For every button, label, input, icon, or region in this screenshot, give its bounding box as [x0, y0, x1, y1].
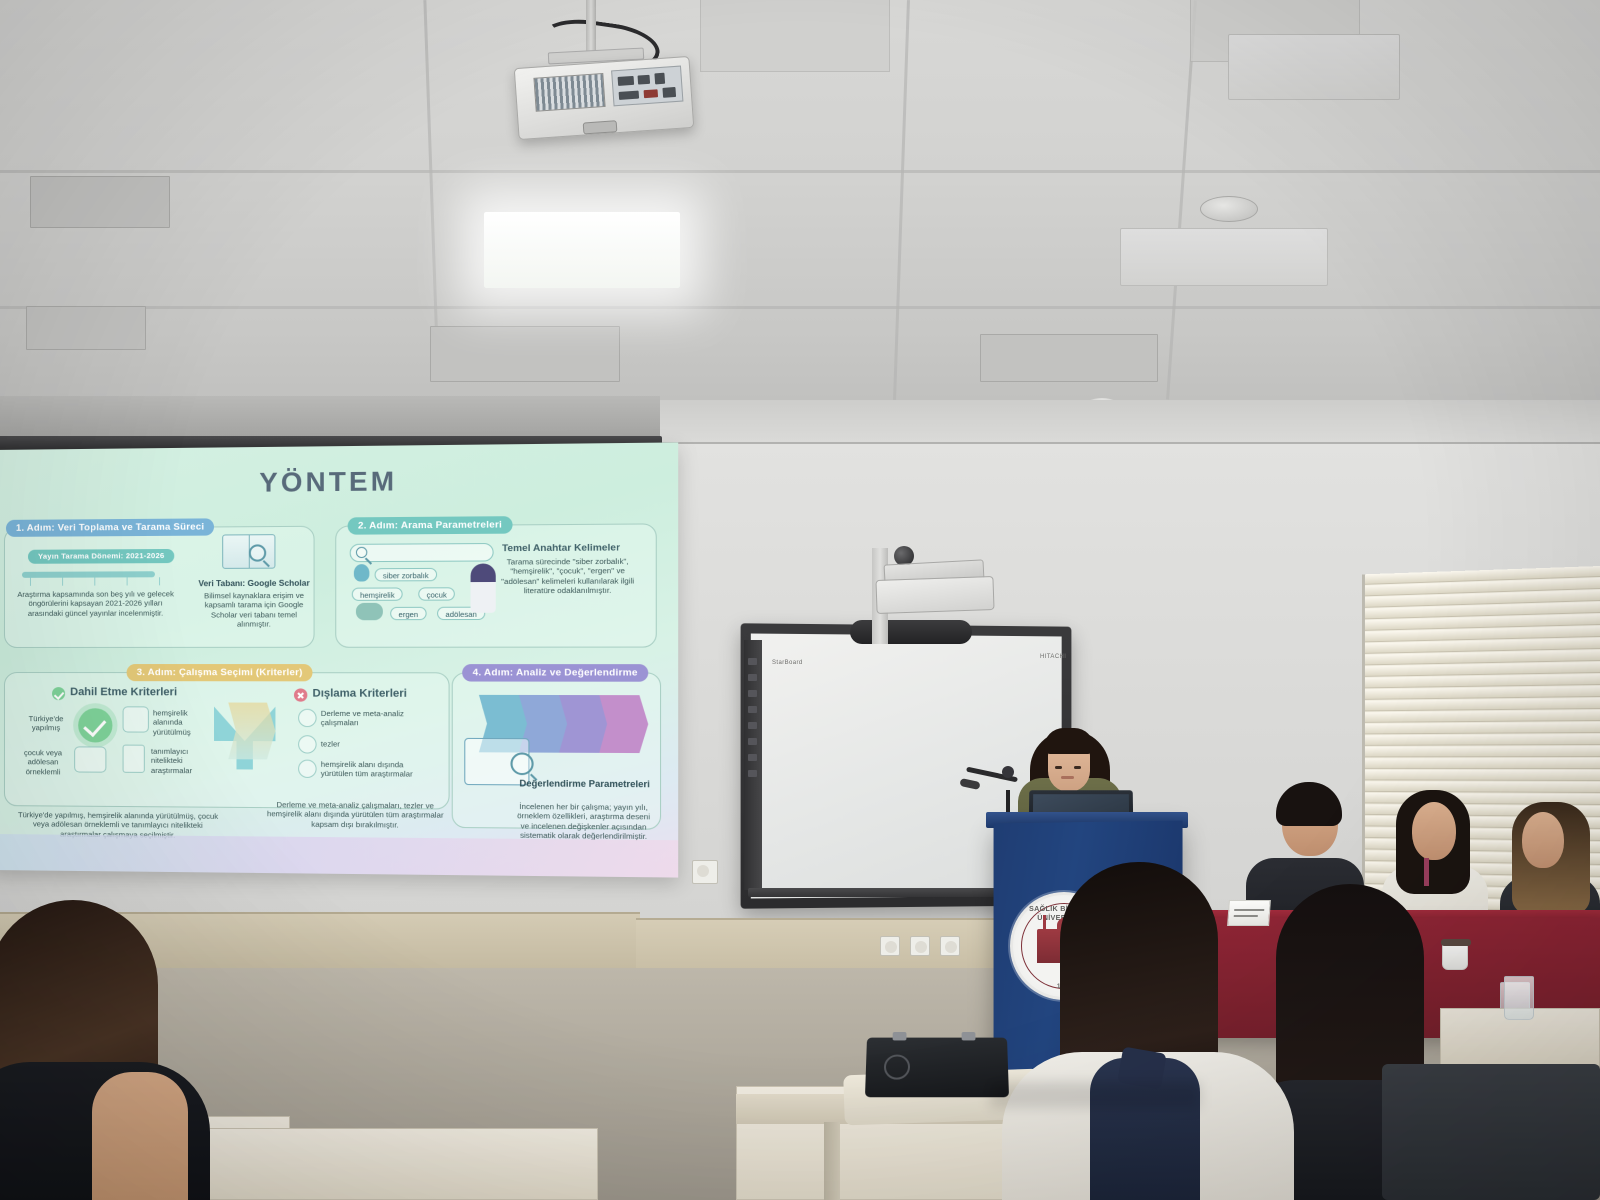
- include-check-icon: [52, 687, 65, 700]
- wall-short-throw-projector: [875, 576, 994, 614]
- wall-socket-left[interactable]: [692, 860, 718, 884]
- presentation-slide: YÖNTEM 1. Adım: Veri Toplama ve Tarama S…: [0, 442, 678, 877]
- magnifier-icon: [249, 544, 266, 561]
- desk-leg-center: [824, 1122, 840, 1200]
- exclude-item-0: Derleme ve meta-analiz çalışmaları: [321, 709, 423, 728]
- projection-screen: YÖNTEM 1. Adım: Veri Toplama ve Tarama S…: [0, 442, 678, 877]
- analysis-magnifier-icon: [510, 752, 533, 775]
- projector-lens: [583, 120, 618, 134]
- ceiling-speaker-icon: [1200, 196, 1258, 222]
- slide-bottom-band: [0, 834, 678, 878]
- keyword-tag-2: çocuk: [418, 587, 455, 600]
- step3-pill: 3. Adım: Çalışma Seçimi (Kriterler): [127, 664, 313, 681]
- nurse-avatar-icon: [471, 564, 496, 613]
- wall-socket-1[interactable]: [880, 936, 900, 956]
- step1-right-text: Bilimsel kaynaklara erişim ve kapsamlı t…: [198, 591, 311, 629]
- step1-timeline-bar: [22, 571, 155, 578]
- slide-title: YÖNTEM: [0, 463, 678, 501]
- search-bar-graphic: [350, 543, 494, 562]
- projector-port-panel: [611, 66, 683, 107]
- person-avatar-icon: [354, 564, 370, 581]
- presenter-hair-top: [1044, 728, 1094, 754]
- lecture-room-scene: YÖNTEM 1. Adım: Veri Toplama ve Tarama S…: [0, 0, 1600, 1200]
- coffee-cup: [1442, 942, 1468, 970]
- exclude-x-icon: [294, 688, 307, 701]
- whiteboard-soundbar: [850, 620, 972, 644]
- nurse-icon: [123, 706, 149, 732]
- step1-right-heading: Veri Tabanı: Google Scholar: [198, 579, 311, 589]
- children-icon: [74, 746, 106, 772]
- search-icon: [356, 547, 367, 558]
- include-item-3: tanımlayıcı nitelikteki araştırmalar: [151, 747, 216, 776]
- chair-right[interactable]: [1382, 1064, 1600, 1200]
- step1-pill: 1. Adım: Veri Toplama ve Tarama Süreci: [6, 518, 214, 537]
- group-avatar-icon: [356, 603, 383, 620]
- keyword-tag-1: hemşirelik: [352, 587, 403, 600]
- step1-left-text: Araştırma kapsamında son beş yılı ve gel…: [10, 589, 181, 618]
- review-icon: [298, 709, 317, 727]
- big-check-icon: [78, 708, 112, 742]
- step2-pill: 2. Adım: Arama Parametreleri: [348, 516, 513, 535]
- step4-text: İncelenen her bir çalışma; yayın yılı, ö…: [513, 802, 655, 842]
- keyword-tag-0: siber zorbalık: [375, 568, 437, 582]
- include-item-2: çocuk veya adölesan örneklemli: [14, 748, 72, 777]
- microphone-joint: [1002, 766, 1014, 778]
- projector-vent-grill: [533, 73, 605, 112]
- document-icon: [123, 745, 145, 773]
- presenter-mouth: [1061, 776, 1074, 779]
- whiteboard-brand-right: HITACHI: [1040, 654, 1066, 660]
- step4-pill: 4. Adım: Analiz ve Değerlendirme: [462, 664, 648, 682]
- panel-nameplate: [1227, 900, 1271, 926]
- ceiling: [0, 0, 1600, 440]
- wall-soffit: [640, 400, 1600, 444]
- step4-heading: Değerlendirme Parametreleri: [519, 779, 651, 790]
- equipment-bag: [865, 1038, 1009, 1098]
- step1-timeline-badge: Yayın Tarama Dönemi: 2021-2026: [28, 549, 175, 564]
- wall-socket-3[interactable]: [940, 936, 960, 956]
- wall-socket-2[interactable]: [910, 936, 930, 956]
- whiteboard-side-buttons[interactable]: [744, 640, 762, 890]
- step2-heading: Temel Anahtar Kelimeler: [502, 542, 620, 554]
- include-item-1: hemşirelik alanında yürütülmüş: [153, 708, 216, 737]
- desk-left-mid: [158, 1128, 598, 1200]
- thesis-icon: [298, 735, 317, 753]
- ceiling-light-on: [484, 212, 680, 288]
- keyword-tag-3: ergen: [390, 607, 426, 620]
- other-field-icon: [298, 760, 317, 778]
- step3-include-heading: Dahil Etme Kriterleri: [70, 686, 177, 698]
- exclude-item-2: hemşirelik alanı dışında yürütülen tüm a…: [321, 760, 429, 780]
- step2-text: Tarama sürecinde "siber zorbalık", "hemş…: [500, 557, 636, 596]
- include-item-0: Türkiye'de yapılmış: [18, 714, 74, 733]
- step3-exclude-summary: Derleme ve meta-analiz çalışmaları, tezl…: [263, 800, 447, 830]
- step3-exclude-heading: Dışlama Kriterleri: [313, 687, 407, 699]
- water-glass-right: [1504, 976, 1534, 1020]
- exclude-item-1: tezler: [321, 739, 423, 749]
- whiteboard-brand-left: StarBoard: [772, 660, 803, 666]
- ceiling-projector: [514, 56, 695, 140]
